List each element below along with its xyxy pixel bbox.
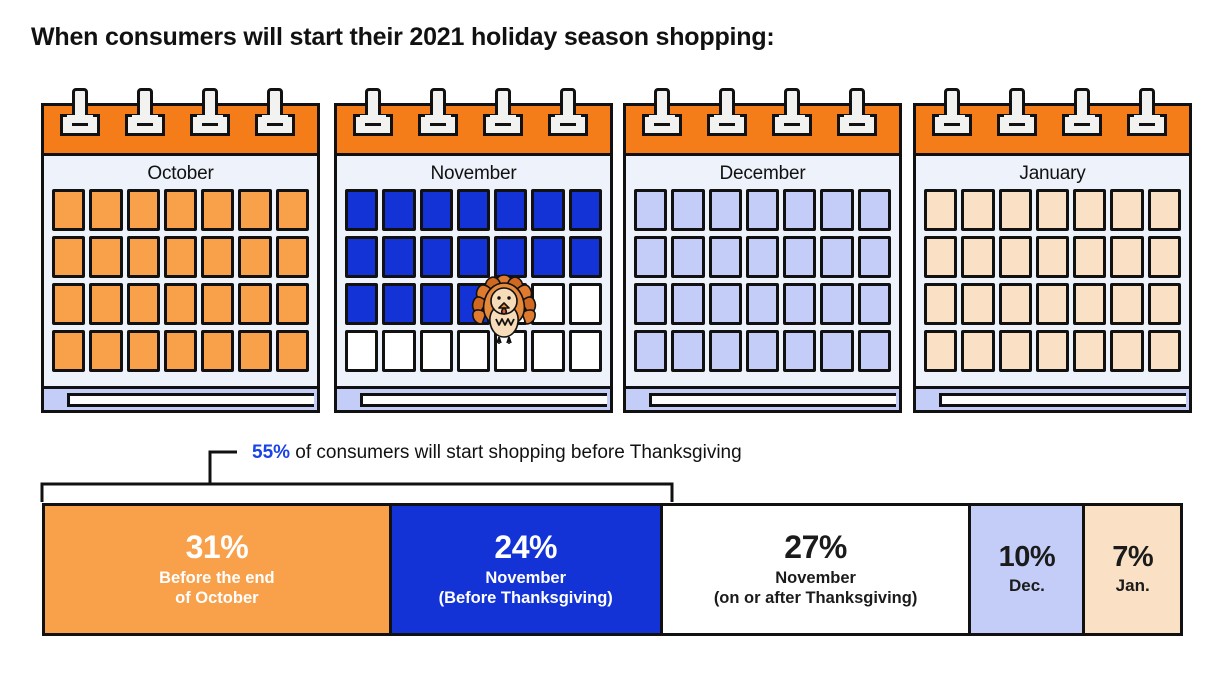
calendar-day-cell — [820, 236, 853, 278]
calendar-day-cell — [164, 189, 197, 231]
calendar-day-cell — [709, 330, 742, 372]
calendar-footer — [916, 386, 1189, 410]
segment-label: November (Before Thanksgiving) — [439, 568, 613, 608]
calendar-day-cell — [382, 189, 415, 231]
calendar-month-label: November — [337, 156, 610, 189]
calendar-day-cell — [89, 189, 122, 231]
calendar-header-bar — [44, 106, 317, 156]
calendar-day-cell — [709, 236, 742, 278]
calendar-day-cell — [1073, 189, 1106, 231]
calendar-day-cell — [345, 236, 378, 278]
calendar-day-cell — [238, 189, 271, 231]
calendar-footer — [44, 386, 317, 410]
segment-label-line2: of October — [175, 589, 258, 607]
callout-text: 55% of consumers will start shopping bef… — [252, 442, 742, 464]
calendar-day-cell — [820, 330, 853, 372]
calendar-day-cell — [671, 283, 704, 325]
segment-label-line1: November — [775, 569, 856, 587]
calendar-grid — [916, 189, 1189, 372]
calendar-day-cell — [276, 330, 309, 372]
calendar-day-cell — [783, 330, 816, 372]
calendar-day-cell — [746, 236, 779, 278]
calendar-day-cell — [345, 330, 378, 372]
calendar-header-bar — [626, 106, 899, 156]
segment-value: 7% — [1112, 542, 1153, 572]
bar-segment-october[interactable]: 31% Before the end of October — [45, 506, 392, 633]
calendar-day-cell — [1110, 330, 1143, 372]
calendar-day-cell — [961, 236, 994, 278]
calendar-month-label: December — [626, 156, 899, 189]
calendar-header-bar — [916, 106, 1189, 156]
calendar-footer — [626, 386, 899, 410]
segment-label: Jan. — [1116, 576, 1150, 597]
page-title: When consumers will start their 2021 hol… — [31, 23, 775, 52]
calendar-day-cell — [201, 189, 234, 231]
segment-value: 10% — [999, 542, 1056, 572]
calendar-grid — [626, 189, 899, 372]
calendar-january: January — [913, 88, 1192, 413]
calendar-day-cell — [858, 283, 891, 325]
calendar-day-cell — [999, 236, 1032, 278]
segment-value: 27% — [784, 531, 847, 565]
calendar-day-cell — [634, 189, 667, 231]
calendar-day-cell — [1110, 189, 1143, 231]
calendar-day-cell — [382, 330, 415, 372]
calendar-december: December — [623, 88, 902, 413]
calendar-day-cell — [201, 236, 234, 278]
calendar-day-cell — [238, 236, 271, 278]
calendar-day-cell — [569, 236, 602, 278]
calendar-day-cell — [709, 283, 742, 325]
calendar-day-cell — [420, 236, 453, 278]
calendar-day-cell — [420, 189, 453, 231]
calendar-day-cell — [1148, 189, 1181, 231]
callout-rest: of consumers will start shopping before … — [290, 442, 742, 463]
segment-label-line1: Before the end — [159, 569, 275, 587]
calendar-day-cell — [276, 236, 309, 278]
calendar-day-cell — [201, 283, 234, 325]
calendar-day-cell — [382, 236, 415, 278]
calendar-day-cell — [52, 236, 85, 278]
segment-value: 24% — [494, 531, 557, 565]
calendar-day-cell — [820, 283, 853, 325]
calendar-day-cell — [924, 283, 957, 325]
calendar-day-cell — [164, 283, 197, 325]
calendar-day-cell — [1148, 283, 1181, 325]
calendar-october: October — [41, 88, 320, 413]
calendar-day-cell — [671, 236, 704, 278]
calendar-day-cell — [858, 330, 891, 372]
calendar-day-cell — [569, 330, 602, 372]
calendar-month-label: October — [44, 156, 317, 189]
segment-label: November (on or after Thanksgiving) — [714, 568, 918, 608]
calendar-day-cell — [858, 189, 891, 231]
calendar-day-cell — [201, 330, 234, 372]
calendar-day-cell — [1036, 283, 1069, 325]
calendar-day-cell — [999, 283, 1032, 325]
calendar-day-cell — [420, 330, 453, 372]
segment-label: Before the end of October — [159, 568, 275, 608]
calendar-day-cell — [127, 189, 160, 231]
calendar-day-cell — [746, 283, 779, 325]
calendar-day-cell — [52, 189, 85, 231]
calendar-day-cell — [1036, 189, 1069, 231]
calendar-day-cell — [1036, 330, 1069, 372]
calendar-day-cell — [238, 330, 271, 372]
calendar-day-cell — [345, 189, 378, 231]
calendar-day-cell — [345, 283, 378, 325]
bar-segment-november-before[interactable]: 24% November (Before Thanksgiving) — [392, 506, 663, 633]
calendar-day-cell — [820, 189, 853, 231]
calendar-day-cell — [89, 283, 122, 325]
calendar-day-cell — [961, 189, 994, 231]
calendar-day-cell — [89, 330, 122, 372]
calendar-day-cell — [924, 189, 957, 231]
calendar-day-cell — [276, 283, 309, 325]
calendar-day-cell — [1110, 283, 1143, 325]
calendar-day-cell — [276, 189, 309, 231]
calendar-day-cell — [671, 330, 704, 372]
calendar-day-cell — [783, 236, 816, 278]
calendar-day-cell — [52, 283, 85, 325]
calendar-header-bar — [337, 106, 610, 156]
calendar-day-cell — [531, 189, 564, 231]
calendar-day-cell — [924, 330, 957, 372]
calendar-day-cell — [569, 189, 602, 231]
segment-label: Dec. — [1009, 576, 1045, 597]
calendar-day-cell — [382, 283, 415, 325]
calendar-day-cell — [164, 330, 197, 372]
segment-label-line2: (on or after Thanksgiving) — [714, 589, 918, 607]
calendar-day-cell — [494, 189, 527, 231]
calendar-day-cell — [569, 283, 602, 325]
calendar-day-cell — [999, 189, 1032, 231]
segment-label-line1: November — [485, 569, 566, 587]
calendar-day-cell — [671, 189, 704, 231]
calendar-day-cell — [127, 283, 160, 325]
calendar-day-cell — [961, 330, 994, 372]
calendar-day-cell — [1073, 330, 1106, 372]
bar-segment-november-after[interactable]: 27% November (on or after Thanksgiving) — [663, 506, 972, 633]
calendar-november: November — [334, 88, 613, 413]
calendar-day-cell — [164, 236, 197, 278]
calendar-day-cell — [420, 283, 453, 325]
calendar-day-cell — [89, 236, 122, 278]
calendar-day-cell — [127, 236, 160, 278]
calendar-day-cell — [961, 283, 994, 325]
calendar-grid — [44, 189, 317, 372]
calendar-day-cell — [634, 330, 667, 372]
calendar-day-cell — [457, 189, 490, 231]
calendar-day-cell — [746, 189, 779, 231]
calendar-day-cell — [924, 236, 957, 278]
calendar-day-cell — [783, 189, 816, 231]
calendar-day-cell — [858, 236, 891, 278]
calendar-day-cell — [999, 330, 1032, 372]
calendar-day-cell — [1073, 236, 1106, 278]
bar-segment-december[interactable]: 10% Dec. — [971, 506, 1085, 633]
calendar-day-cell — [52, 330, 85, 372]
calendar-day-cell — [783, 283, 816, 325]
calendar-footer — [337, 386, 610, 410]
callout-percent: 55% — [252, 442, 290, 463]
segment-label-line2: (Before Thanksgiving) — [439, 589, 613, 607]
calendar-day-cell — [1148, 330, 1181, 372]
turkey-icon — [468, 269, 540, 345]
calendar-day-cell — [238, 283, 271, 325]
calendar-day-cell — [1148, 236, 1181, 278]
calendar-day-cell — [1110, 236, 1143, 278]
calendar-day-cell — [634, 236, 667, 278]
calendar-month-label: January — [916, 156, 1189, 189]
bar-segment-january[interactable]: 7% Jan. — [1085, 506, 1180, 633]
stacked-bar-chart: 31% Before the end of October 24% Novemb… — [42, 503, 1183, 636]
calendar-day-cell — [1036, 236, 1069, 278]
calendar-day-cell — [1073, 283, 1106, 325]
calendar-row: October November — [0, 88, 1226, 413]
segment-value: 31% — [186, 531, 249, 565]
calendar-day-cell — [709, 189, 742, 231]
calendar-day-cell — [634, 283, 667, 325]
calendar-day-cell — [746, 330, 779, 372]
calendar-day-cell — [127, 330, 160, 372]
